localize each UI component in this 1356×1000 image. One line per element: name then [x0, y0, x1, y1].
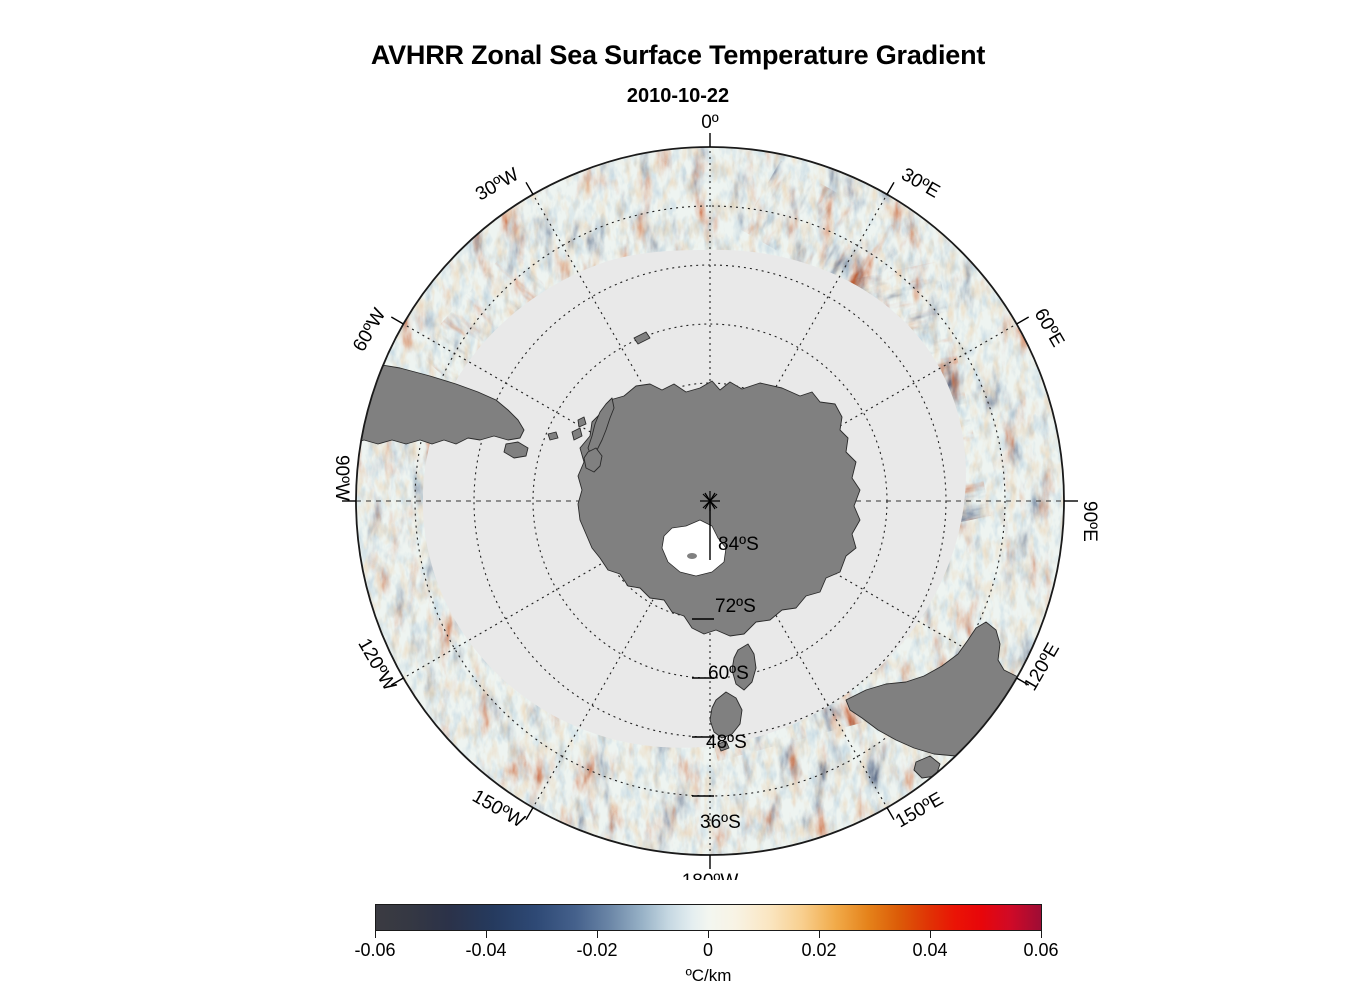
- colorbar-tick-label: -0.02: [537, 940, 657, 961]
- colorbar-tick-label: 0: [648, 940, 768, 961]
- colorbar-gradient: [375, 904, 1042, 931]
- lon-label-30e: 30ºE: [898, 164, 944, 203]
- ross-island-spot: [687, 553, 697, 559]
- colorbar-tick: [930, 931, 931, 938]
- colorbar-tick-label: -0.06: [315, 940, 435, 961]
- colorbar-tick: [708, 931, 709, 938]
- lat-label-48: 48ºS: [706, 732, 747, 753]
- lon-label-90e: 90ºE: [1079, 501, 1100, 542]
- colorbar: -0.06 -0.04 -0.02 0 0.02 0.04 0.06 ºC/km: [375, 904, 1042, 994]
- colorbar-unit-label: ºC/km: [375, 966, 1042, 986]
- polar-map: 84ºS 72ºS 60ºS 48ºS 36ºS 0º 30ºE 60ºE 90…: [0, 0, 1356, 880]
- colorbar-tick: [375, 931, 376, 938]
- lon-label-180w: 180ºW: [682, 871, 739, 880]
- falklands: [548, 432, 558, 440]
- lon-label-0: 0º: [701, 112, 719, 133]
- map-canvas: 84ºS 72ºS 60ºS 48ºS 36ºS 0º 30ºE 60ºE 90…: [0, 0, 1356, 880]
- colorbar-tick: [597, 931, 598, 938]
- lon-label-60e: 60ºE: [1030, 305, 1069, 351]
- lat-label-72: 72ºS: [715, 596, 756, 617]
- lon-label-30w: 30ºW: [472, 164, 522, 205]
- colorbar-tick: [819, 931, 820, 938]
- colorbar-negative-half: [376, 905, 709, 930]
- colorbar-tick-label: 0.02: [759, 940, 879, 961]
- colorbar-tick-label: 0.06: [981, 940, 1101, 961]
- lat-label-84: 84ºS: [718, 534, 759, 555]
- colorbar-tick: [1041, 931, 1042, 938]
- colorbar-tick: [486, 931, 487, 938]
- lat-label-36: 36ºS: [700, 812, 741, 833]
- colorbar-tick-label: -0.04: [426, 940, 546, 961]
- colorbar-tick-label: 0.04: [870, 940, 990, 961]
- lon-label-60w: 60ºW: [349, 305, 390, 355]
- madagascar: [948, 204, 968, 228]
- lat-label-60: 60ºS: [708, 663, 749, 684]
- colorbar-positive-half: [709, 905, 1042, 930]
- lon-label-90w: 90ºW: [331, 455, 352, 501]
